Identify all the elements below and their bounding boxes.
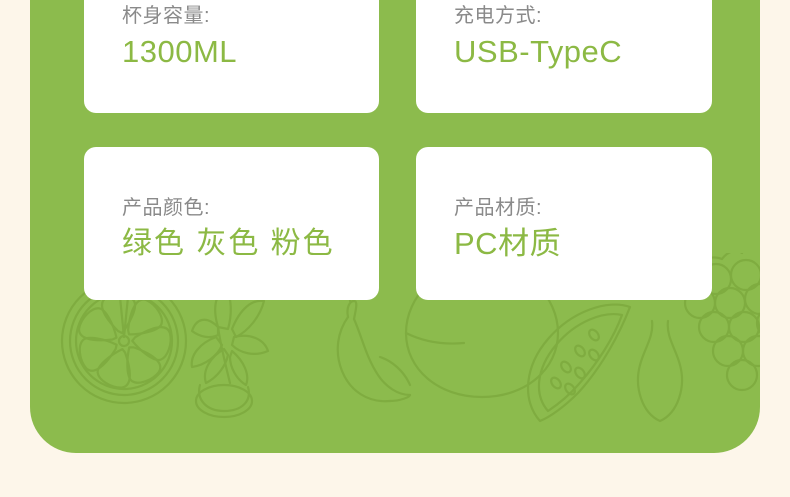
pear-icon (638, 321, 682, 421)
spec-label-capacity: 杯身容量: (122, 2, 365, 31)
spec-card-capacity: 杯身容量: 1300ML (84, 0, 379, 113)
spec-label-material: 产品材质: (454, 194, 698, 223)
spec-label-charging: 充电方式: (454, 2, 698, 31)
spec-value-color: 绿色 灰色 粉色 (122, 225, 365, 263)
spec-card-color: 产品颜色: 绿色 灰色 粉色 (84, 147, 379, 300)
watermelon-slice-icon (528, 305, 630, 421)
spec-value-capacity: 1300ML (122, 33, 365, 72)
spec-value-charging: USB-TypeC (454, 33, 698, 72)
spec-value-material: PC材质 (454, 225, 698, 264)
spec-card-material: 产品材质: PC材质 (416, 147, 712, 300)
product-spec-page: 杯身容量: 1300ML 充电方式: USB-TypeC 产品颜色: 绿色 灰色… (0, 0, 790, 497)
pineapple-icon (192, 287, 268, 417)
spec-card-charging: 充电方式: USB-TypeC (416, 0, 712, 113)
spec-label-color: 产品颜色: (122, 194, 365, 223)
banana-icon (338, 287, 410, 401)
